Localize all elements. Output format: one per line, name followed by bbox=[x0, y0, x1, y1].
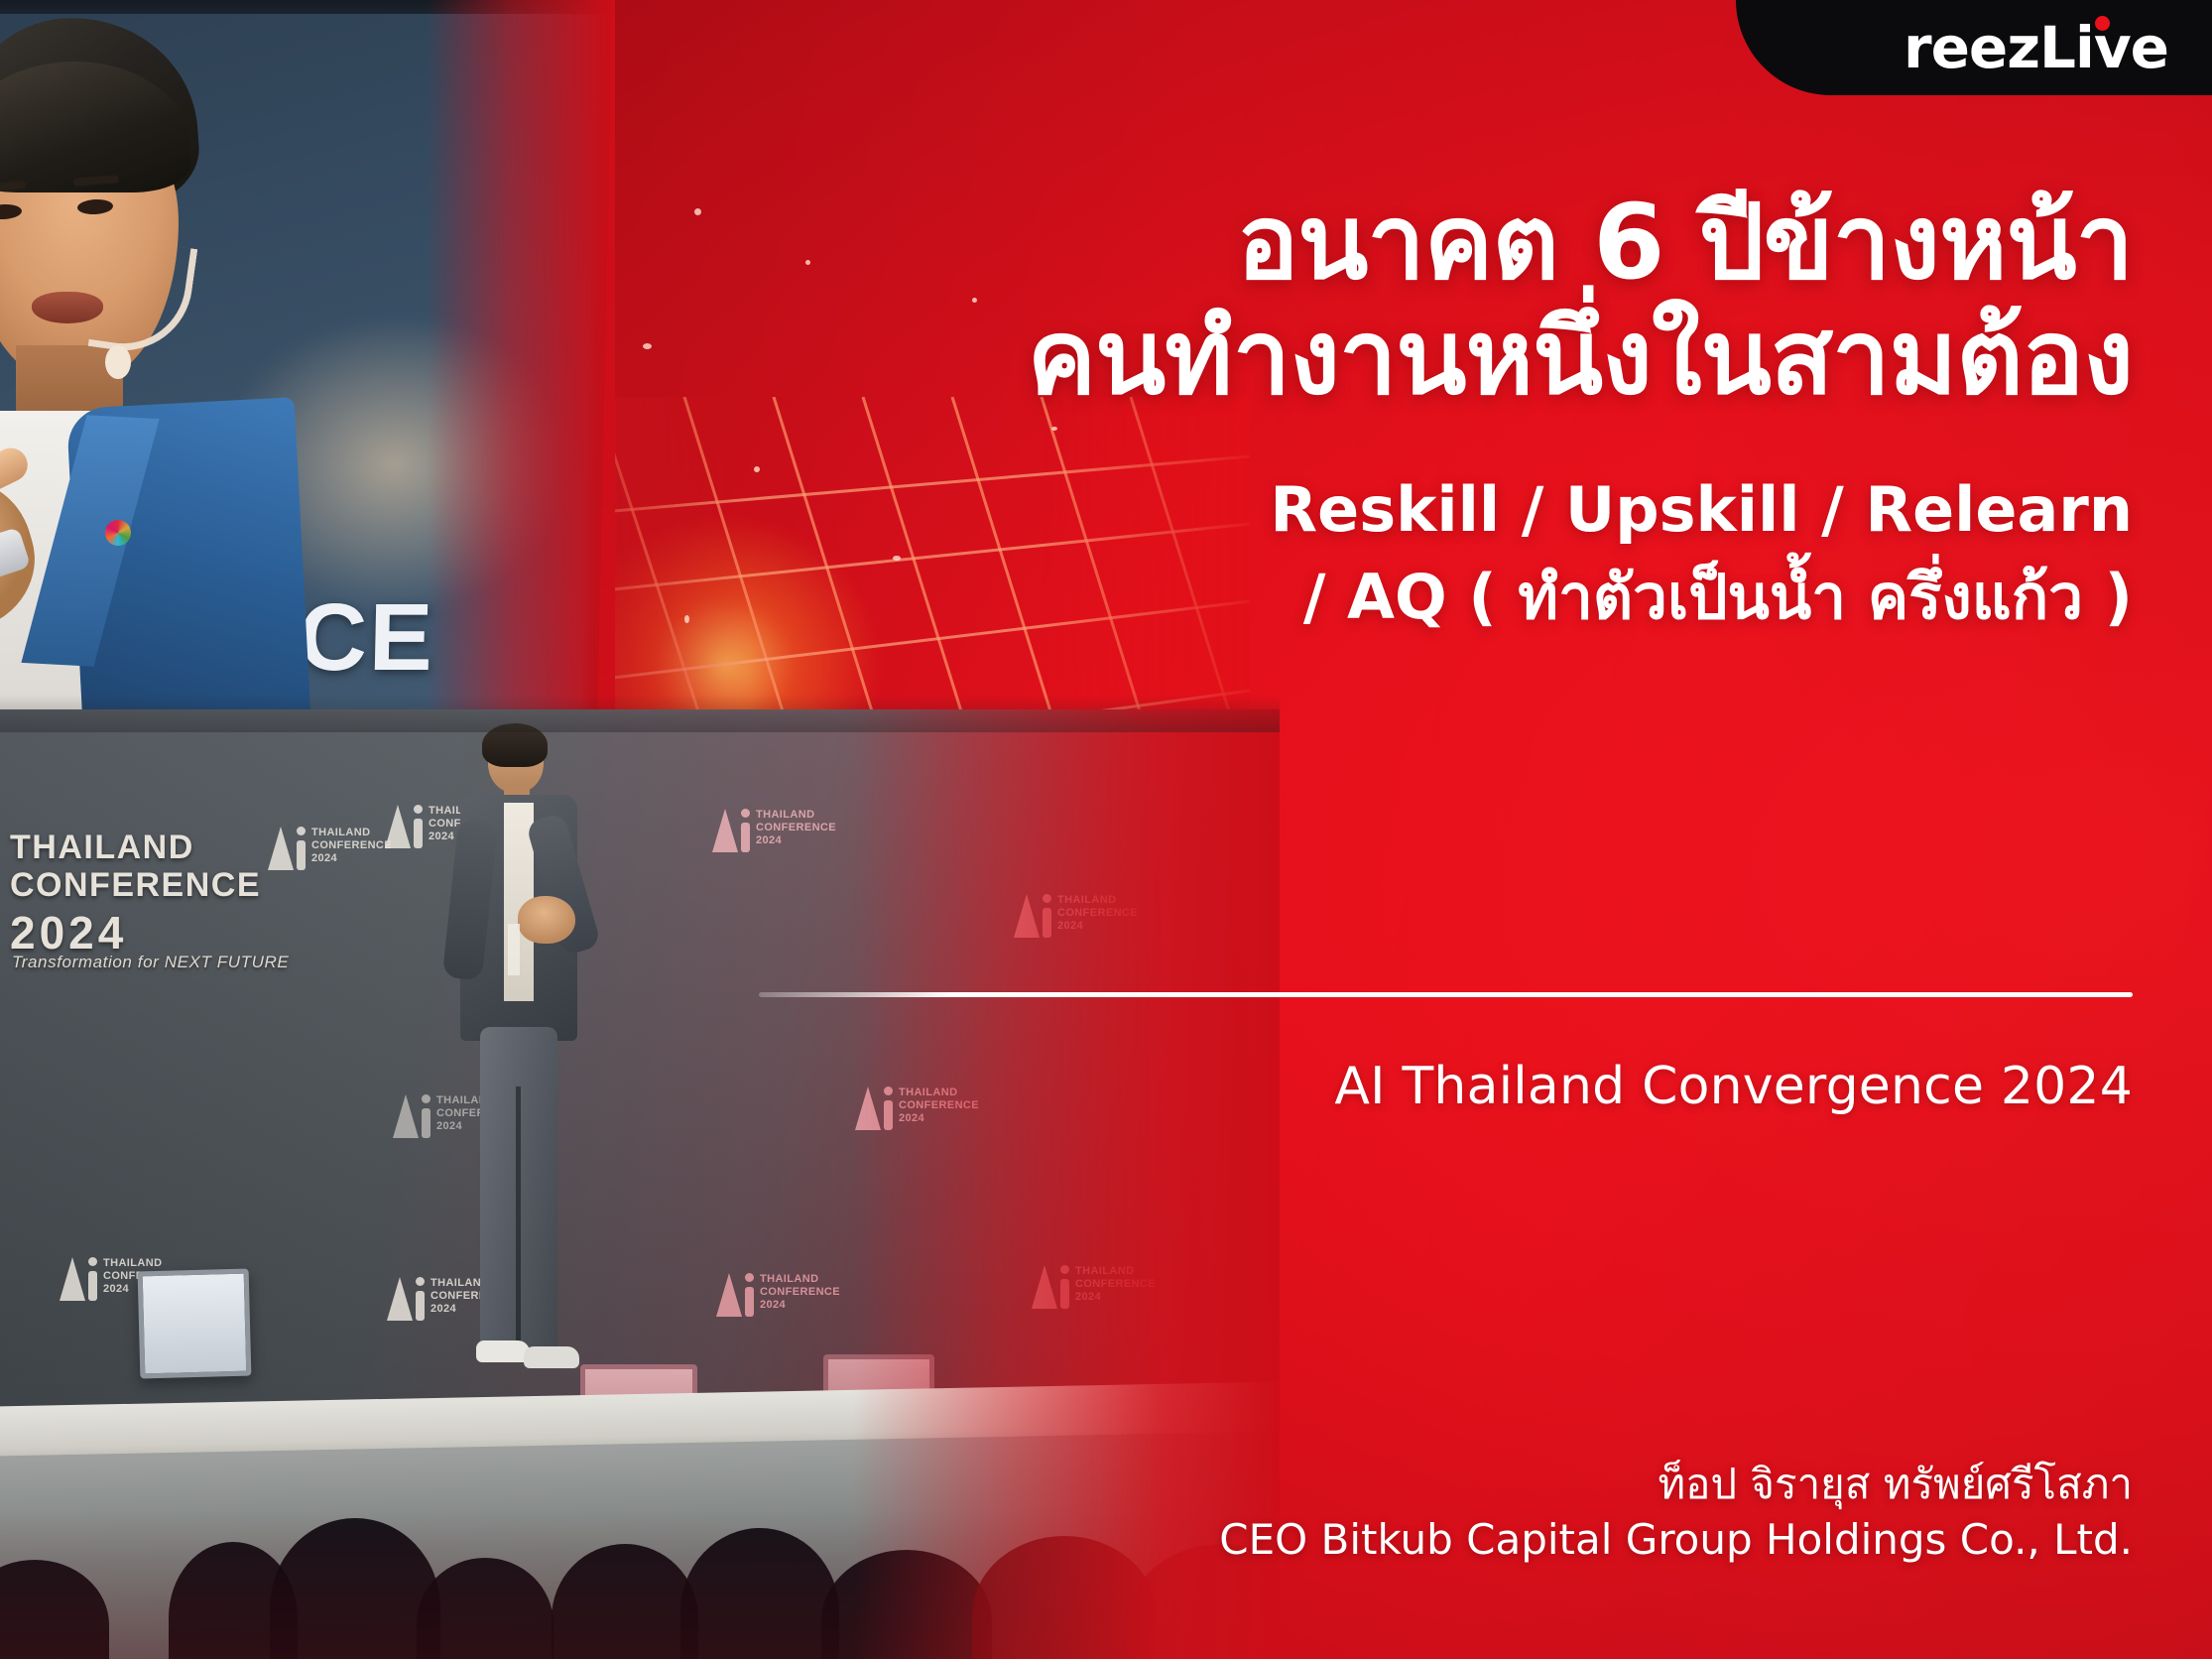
ai-mark-icon bbox=[268, 827, 306, 870]
speckle bbox=[643, 343, 652, 349]
speaker-closeup-figure bbox=[0, 18, 325, 739]
photo-seam bbox=[0, 695, 1280, 732]
reezlive-logo-text: reezLive bbox=[1904, 14, 2168, 81]
ai-mark-icon bbox=[716, 1273, 754, 1317]
photo-right-fade bbox=[427, 0, 615, 739]
headset-microphone-capsule bbox=[105, 345, 131, 379]
backdrop-title-line2: CONFERENCE bbox=[10, 866, 261, 904]
backdrop-logo-tile-text: THAILANDCONFERENCE2024 bbox=[311, 827, 392, 865]
reezlive-logo-dot-icon bbox=[2095, 16, 2110, 31]
stage-monitor-left bbox=[138, 1269, 252, 1379]
stage-speaker-shoe-left bbox=[476, 1340, 530, 1362]
backdrop-logo-tile: THAILANDCONFERENCE2024 bbox=[712, 809, 836, 852]
photo-right-fade bbox=[853, 709, 1280, 1659]
stage-speaker-leg-split bbox=[516, 1086, 521, 1352]
stage-wide-photo: THAILAND CONFERENCE 2024 Transformation … bbox=[0, 709, 1280, 1659]
ai-mark-icon bbox=[393, 1094, 430, 1138]
speckle bbox=[694, 208, 701, 215]
speckle bbox=[1051, 427, 1057, 431]
stage-speaker-hands bbox=[518, 896, 575, 944]
headset-microphone-boom bbox=[88, 236, 198, 359]
sdg-lapel-pin bbox=[105, 520, 131, 546]
promo-card: ND RENCE bbox=[0, 0, 2212, 1659]
backdrop-logo-tile-text: THAILANDCONFERENCE2024 bbox=[760, 1273, 840, 1312]
stage-speaker-lanyard bbox=[508, 924, 520, 975]
backdrop-title-line1: THAILAND bbox=[10, 829, 194, 866]
speckle bbox=[805, 260, 810, 265]
speckle bbox=[684, 615, 689, 623]
reezlive-logo[interactable]: reezLive bbox=[1904, 14, 2168, 81]
ai-mark-icon bbox=[387, 1277, 425, 1321]
backdrop-logo-tile: THAILANDCONFERENCE2024 bbox=[268, 827, 392, 870]
backdrop-logo-tile: THAILANDCONFERENCE2024 bbox=[716, 1273, 840, 1317]
brand-badge[interactable]: reezLive bbox=[1736, 0, 2212, 95]
backdrop-logo-tile-text: THAILANDCONFERENCE2024 bbox=[756, 809, 836, 847]
speckle bbox=[893, 556, 901, 561]
stage-speaker-shoe-right bbox=[524, 1346, 579, 1368]
ai-mark-icon bbox=[60, 1257, 97, 1301]
backdrop-title-year: 2024 bbox=[10, 908, 337, 959]
backdrop-tagline: Transformation for NEXT FUTURE bbox=[12, 953, 339, 972]
stage-speaker-figure bbox=[432, 729, 601, 1424]
speaker-closeup-photo: ND RENCE bbox=[0, 0, 615, 739]
speckle bbox=[754, 466, 760, 472]
speckle bbox=[972, 298, 977, 303]
ai-mark-icon bbox=[712, 809, 750, 852]
